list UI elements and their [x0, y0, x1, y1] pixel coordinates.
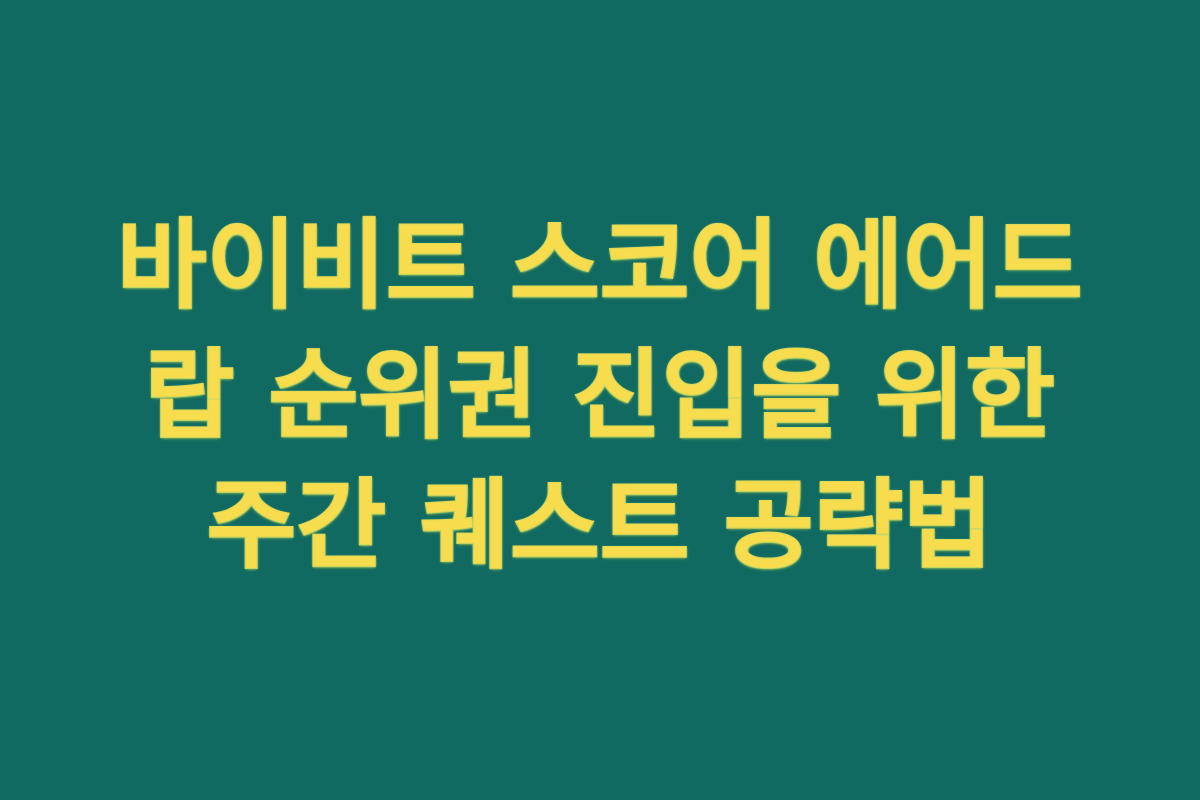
headline-line-1: 바이비트 스코어 에어드 — [70, 201, 1130, 331]
headline-line-3: 주간 퀘스트 공략법 — [70, 461, 1130, 591]
headline-block: 바이비트 스코어 에어드 랍 순위권 진입을 위한 주간 퀘스트 공략법 — [70, 201, 1130, 591]
thumbnail-canvas: 바이비트 스코어 에어드 랍 순위권 진입을 위한 주간 퀘스트 공략법 — [0, 0, 1200, 800]
headline-line-2: 랍 순위권 진입을 위한 — [70, 331, 1130, 461]
